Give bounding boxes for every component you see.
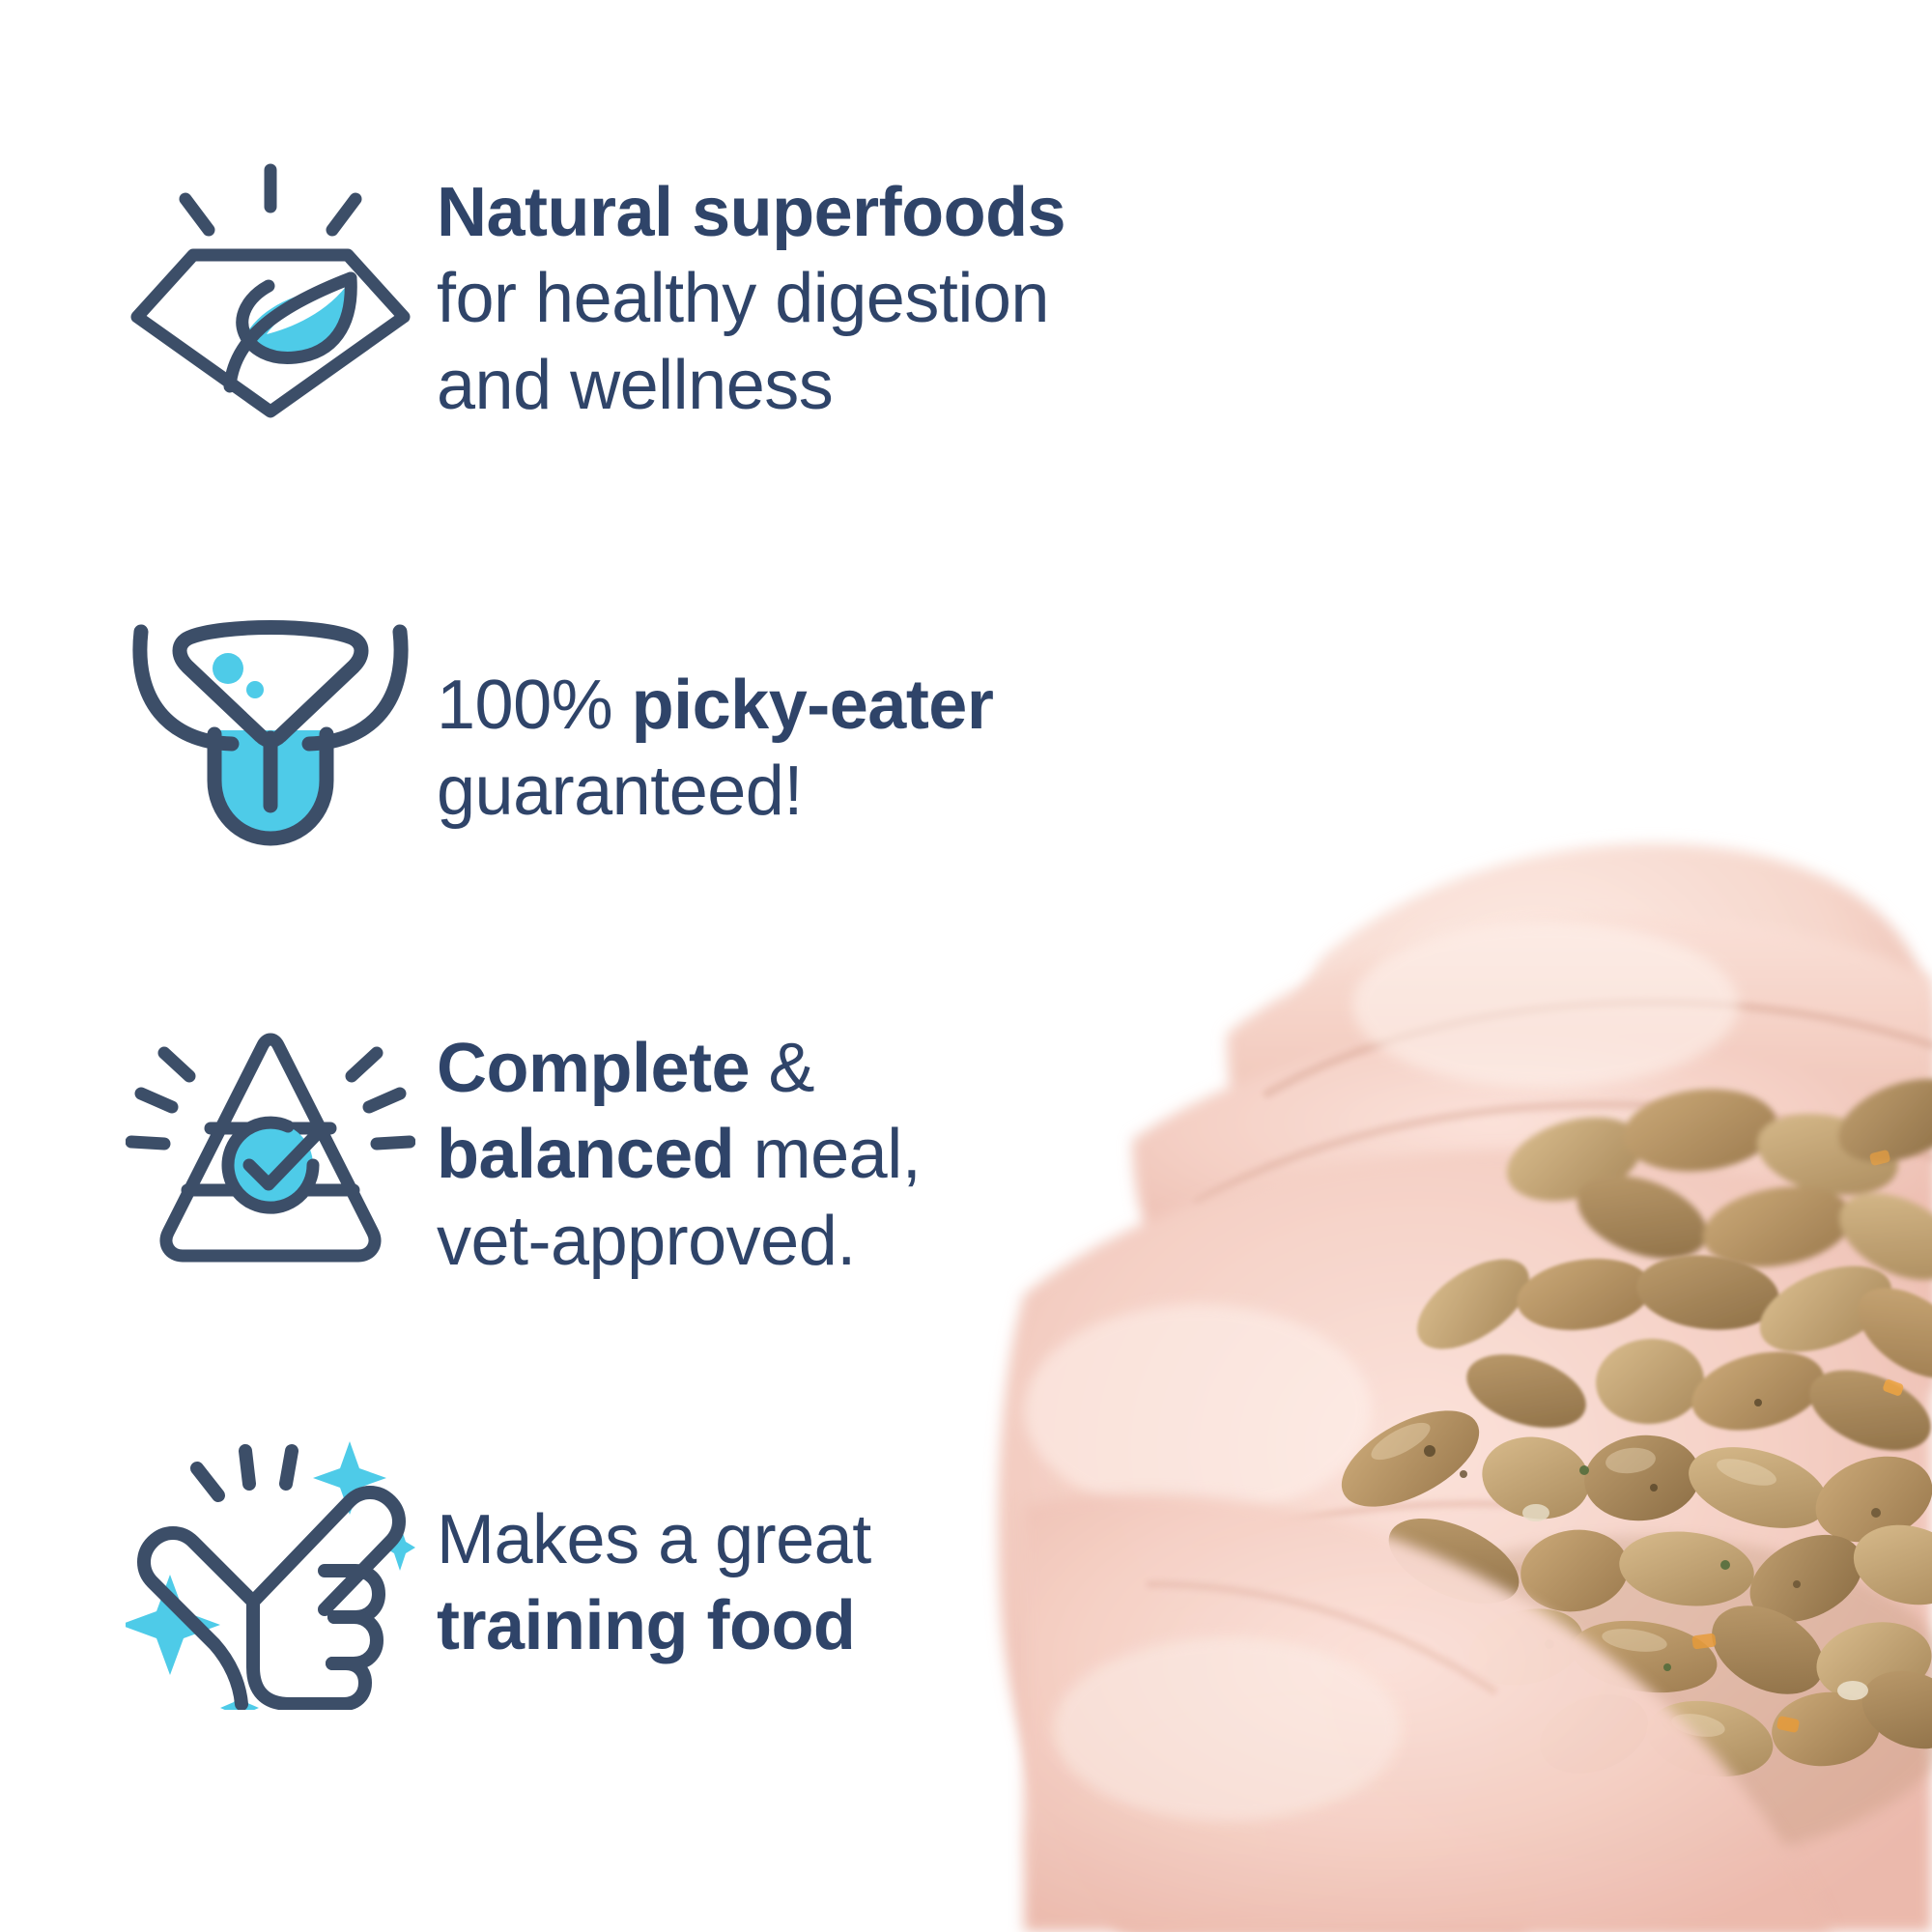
feature-item-picky-eater: 100% picky-eater guaranteed! — [126, 607, 993, 853]
feature-2-line2: guaranteed! — [437, 749, 993, 835]
feature-text-picky-eater: 100% picky-eater guaranteed! — [437, 663, 993, 836]
feature-4-line1: Makes a great — [437, 1497, 871, 1583]
pointing-hand-sparkle-icon — [126, 1430, 415, 1710]
feature-text-complete-balanced: Complete & balanced meal, vet-approved. — [437, 1026, 921, 1285]
feature-list: Natural superfoods for healthy digestion… — [0, 0, 1401, 1932]
feature-3-line2-bold: balanced — [437, 1116, 734, 1193]
feature-1-line3: and wellness — [437, 343, 1065, 429]
feature-2-line1-bold: picky-eater — [632, 667, 994, 744]
feature-3-line2-suffix: meal, — [734, 1116, 921, 1193]
feature-text-natural-superfoods: Natural superfoods for healthy digestion… — [437, 170, 1065, 429]
promo-graphic: Natural superfoods for healthy digestion… — [0, 0, 1932, 1932]
diamond-leaf-icon — [126, 162, 415, 418]
feature-item-complete-balanced: Complete & balanced meal, vet-approved. — [126, 1024, 921, 1285]
feature-3-line3: vet-approved. — [437, 1199, 921, 1285]
feature-item-training-food: Makes a great training food — [126, 1430, 871, 1710]
feature-text-training-food: Makes a great training food — [437, 1497, 871, 1670]
feature-2-line1-prefix: 100% — [437, 667, 632, 744]
dog-tongue-icon — [126, 607, 415, 853]
feature-1-line1: Natural superfoods — [437, 174, 1065, 251]
feature-4-line2-bold: training food — [437, 1587, 855, 1664]
feature-1-line2: for healthy digestion — [437, 256, 1065, 342]
food-pyramid-check-icon — [126, 1024, 415, 1270]
feature-3-line1-bold: Complete — [437, 1030, 750, 1107]
feature-item-natural-superfoods: Natural superfoods for healthy digestion… — [126, 162, 1065, 429]
feature-3-line1-suffix: & — [750, 1030, 814, 1107]
